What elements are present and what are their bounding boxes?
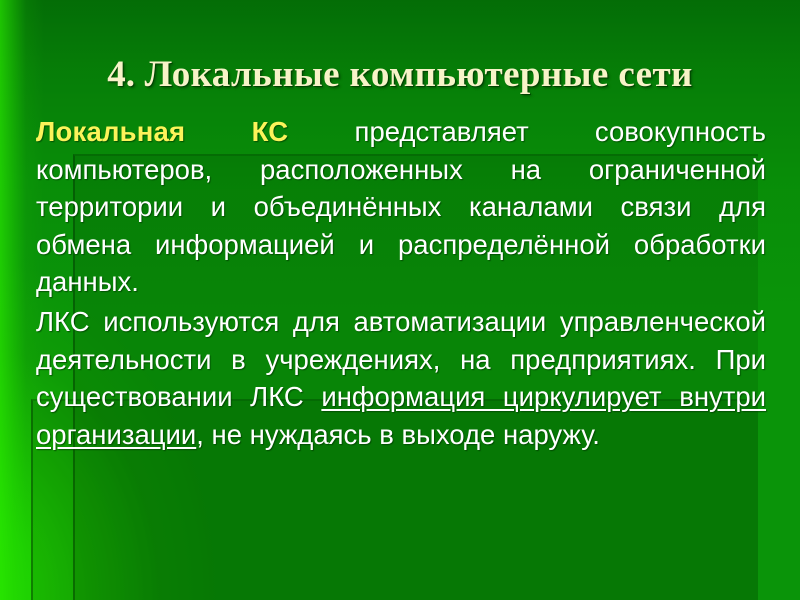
paragraph-definition: Локальная КС представляет совокупность к… [36,113,766,301]
paragraph-usage: ЛКС используются для автоматизации управ… [36,303,766,453]
presentation-slide: 4. Локальные компьютерные сети Локальная… [0,0,800,600]
usage-text-part-two: , не нуждаясь в выходе наружу. [196,419,600,450]
slide-title: 4. Локальные компьютерные сети [0,53,800,97]
lead-term: Локальная КС [36,116,288,147]
slide-body: Локальная КС представляет совокупность к… [36,113,766,455]
slide-title-number: 4. [107,54,135,95]
slide-title-text: Локальные компьютерные сети [145,54,693,95]
